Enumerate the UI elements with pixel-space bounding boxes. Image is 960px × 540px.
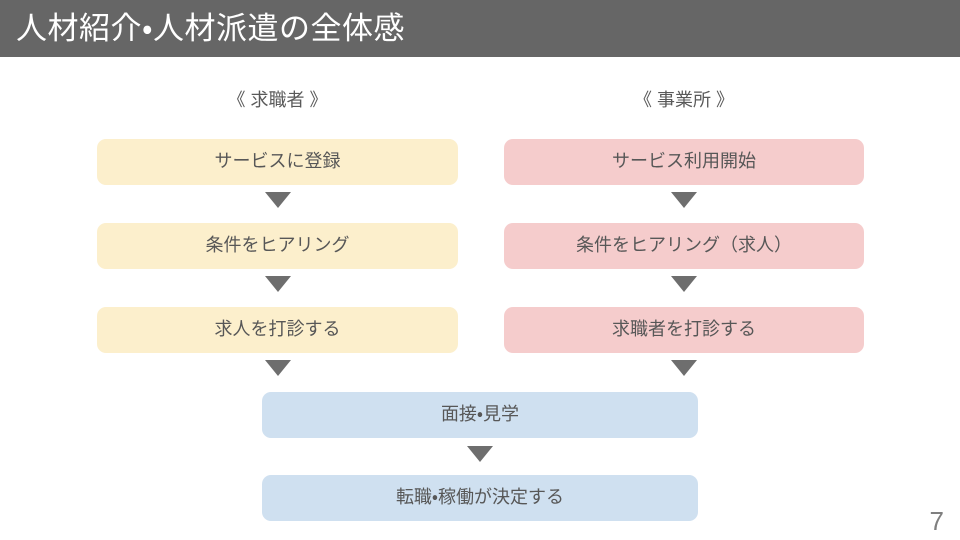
flow-box-shared-step-2[interactable]: 転職・稼働が決定する <box>262 475 698 521</box>
slide-canvas: 人材紹介・人材派遣の全体感 《 求職者 》 《 事業所 》 サービスに登録 条件… <box>0 0 960 540</box>
flow-box-jobseeker-step-1[interactable]: サービスに登録 <box>97 139 458 185</box>
column-header-jobseeker: 《 求職者 》 <box>97 91 458 109</box>
down-triangle-icon <box>265 276 291 292</box>
flow-box-jobseeker-step-2[interactable]: 条件をヒアリング <box>97 223 458 269</box>
down-triangle-icon <box>467 446 493 462</box>
column-header-employer: 《 事業所 》 <box>504 91 864 109</box>
flow-box-employer-step-2[interactable]: 条件をヒアリング（求人） <box>504 223 864 269</box>
flow-box-employer-step-1[interactable]: サービス利用開始 <box>504 139 864 185</box>
down-triangle-icon <box>265 360 291 376</box>
flow-box-jobseeker-step-3[interactable]: 求人を打診する <box>97 307 458 353</box>
down-triangle-icon <box>671 276 697 292</box>
down-triangle-icon <box>671 192 697 208</box>
page-number: 7 <box>930 508 944 534</box>
flow-box-employer-step-3[interactable]: 求職者を打診する <box>504 307 864 353</box>
down-triangle-icon <box>265 192 291 208</box>
down-triangle-icon <box>671 360 697 376</box>
flow-box-shared-step-1[interactable]: 面接・見学 <box>262 392 698 438</box>
page-title: 人材紹介・人材派遣の全体感 <box>0 13 405 44</box>
slide-title-bar: 人材紹介・人材派遣の全体感 <box>0 0 960 57</box>
